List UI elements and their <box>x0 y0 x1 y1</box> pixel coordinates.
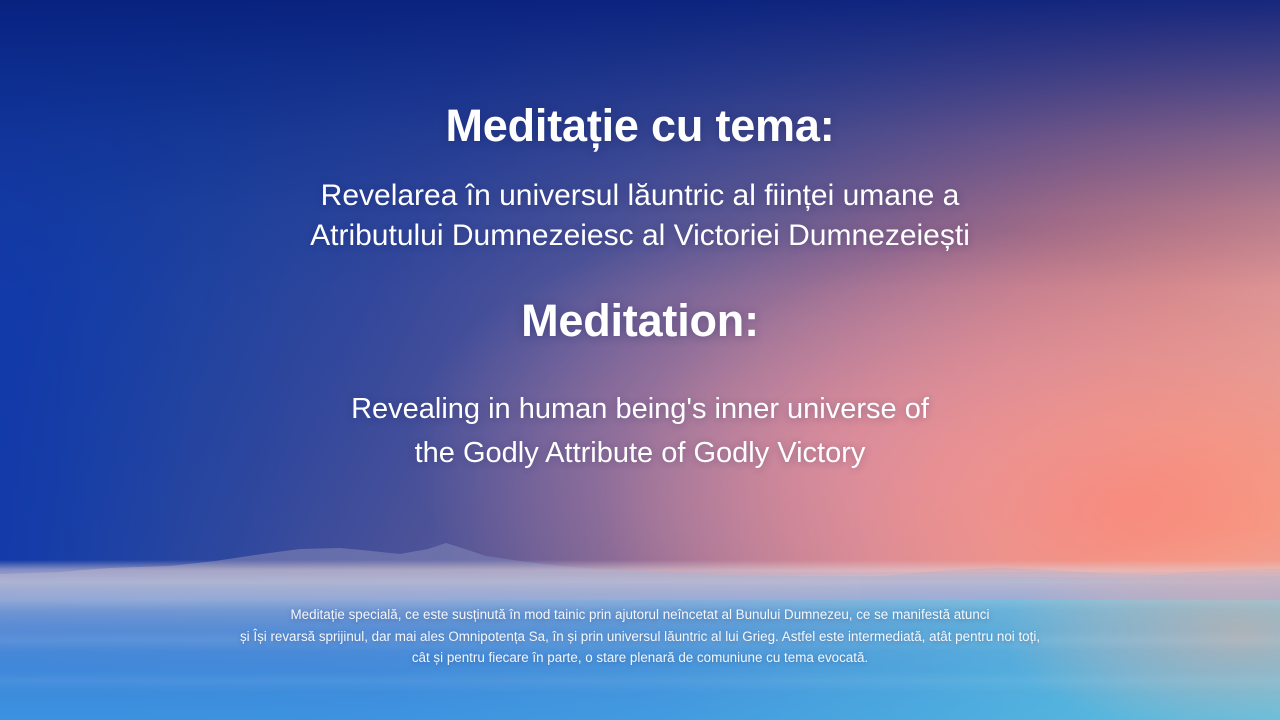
footnote-line-2: și Își revarsă sprijinul, dar mai ales O… <box>0 626 1280 648</box>
slide-canvas: Meditație cu tema: Revelarea în universu… <box>0 0 1280 720</box>
english-subtitle-line-1: Revealing in human being's inner univers… <box>0 387 1280 431</box>
footnote-line-1: Meditație specială, ce este susținută în… <box>0 604 1280 626</box>
romanian-subtitle-line-1: Revelarea în universul lăuntric al ființ… <box>0 176 1280 216</box>
romanian-subtitle-line-2: Atributului Dumnezeiesc al Victoriei Dum… <box>0 216 1280 256</box>
footnote-line-3: cât și pentru fiecare în parte, o stare … <box>0 647 1280 669</box>
footnote-text: Meditație specială, ce este susținută în… <box>0 604 1280 669</box>
english-subtitle-line-2: the Godly Attribute of Godly Victory <box>0 431 1280 475</box>
romanian-heading: Meditație cu tema: <box>0 100 1280 152</box>
romanian-subtitle: Revelarea în universul lăuntric al ființ… <box>0 176 1280 256</box>
slide-content: Meditație cu tema: Revelarea în universu… <box>0 0 1280 720</box>
english-heading: Meditation: <box>0 295 1280 347</box>
english-subtitle: Revealing in human being's inner univers… <box>0 387 1280 475</box>
